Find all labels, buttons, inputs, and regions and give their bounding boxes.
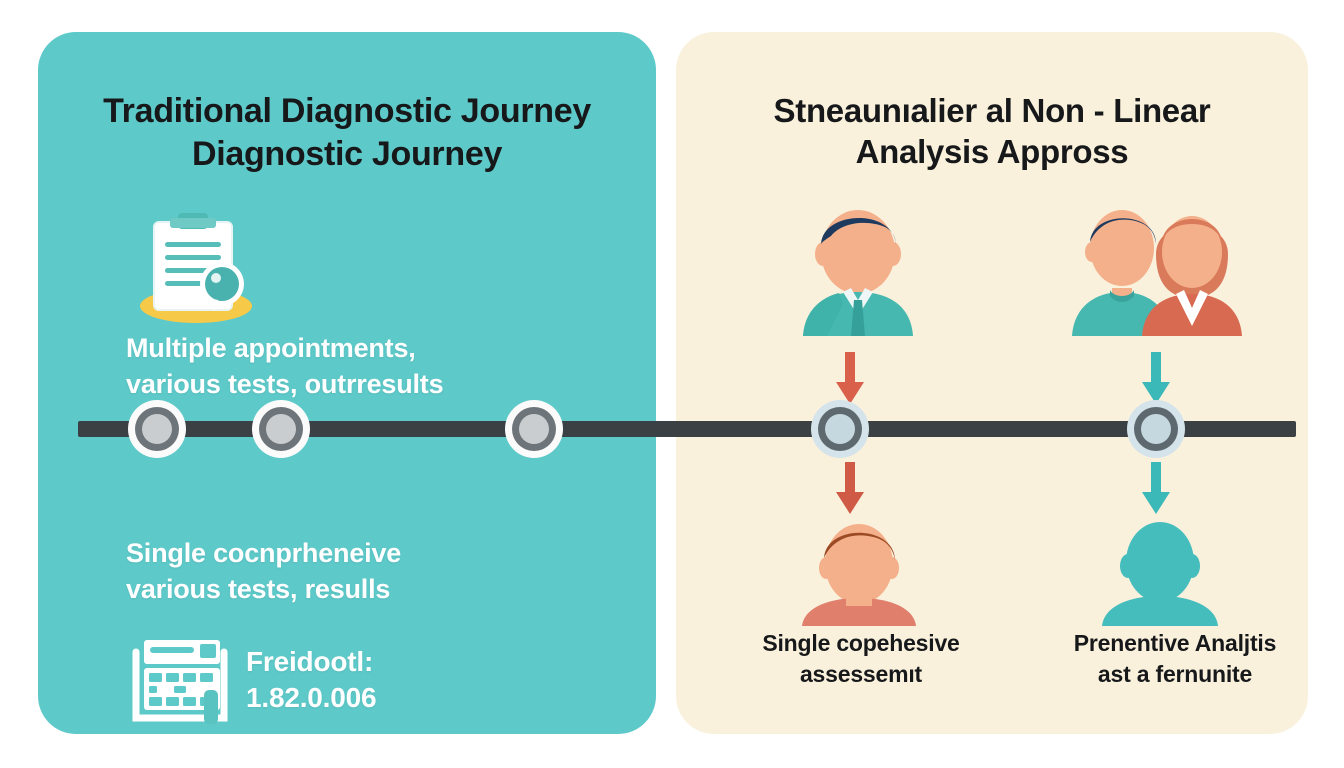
- timeline-node[interactable]: [252, 400, 310, 458]
- right-panel-title: Stneaunıalier al Non - Linear Analysis A…: [676, 90, 1308, 173]
- timeline-node[interactable]: [1127, 400, 1185, 458]
- arrow-down-icon: [1141, 462, 1171, 516]
- couple-avatar-icon: [1064, 196, 1248, 336]
- timeline-node-ring: [512, 407, 556, 451]
- timeline-node[interactable]: [811, 400, 869, 458]
- clipboard-magnifier-icon: [130, 208, 260, 326]
- timeline-node-core: [825, 414, 855, 444]
- infographic-canvas: Traditional Diagnostic Journey Diagnosti…: [0, 0, 1344, 768]
- left-panel: Traditional Diagnostic Journey Diagnosti…: [38, 32, 656, 734]
- timeline-node-core: [1141, 414, 1171, 444]
- right-title-line-1: Stneaunıalier al Non - Linear: [702, 90, 1282, 131]
- timeline-node-core: [266, 414, 296, 444]
- businessman-avatar-icon: [783, 196, 933, 336]
- timeline-node-ring: [135, 407, 179, 451]
- metric-readout: Freidootl: 1.82.0.006: [246, 644, 376, 717]
- left-title-line-1: Traditional Diagnostic Journey: [64, 90, 630, 133]
- left-text-bottom-line-2: various tests, resulls: [126, 571, 586, 607]
- timeline-node[interactable]: [128, 400, 186, 458]
- timeline-node-core: [519, 414, 549, 444]
- caption-preventive-analytics: Prenentive Analjtis ast a fernunite: [1022, 628, 1328, 690]
- left-text-bottom: Single cocnprheneive various tests, resu…: [126, 535, 586, 608]
- left-text-top: Multiple appointments, various tests, ou…: [126, 330, 586, 403]
- left-text-top-line-2: various tests, outrresults: [126, 366, 586, 402]
- arrow-down-icon: [835, 352, 865, 406]
- caption-left-line-1: Single copehesive: [706, 628, 1016, 659]
- left-title-line-2: Diagnostic Journey: [64, 133, 630, 176]
- metric-value: 1.82.0.006: [246, 680, 376, 716]
- metric-label: Freidootl:: [246, 644, 376, 680]
- person-avatar-icon: [788, 516, 930, 626]
- person-silhouette-icon: [1094, 516, 1226, 626]
- calendar-form-icon: [128, 638, 236, 730]
- left-panel-title: Traditional Diagnostic Journey Diagnosti…: [38, 90, 656, 175]
- caption-right-line-1: Prenentive Analjtis: [1022, 628, 1328, 659]
- arrow-down-icon: [835, 462, 865, 516]
- right-title-line-2: Analysis Appross: [702, 131, 1282, 172]
- caption-single-cohesive: Single copehesive assessemıt: [706, 628, 1016, 690]
- arrow-down-icon: [1141, 352, 1171, 406]
- timeline-node-ring: [1134, 407, 1178, 451]
- left-text-top-line-1: Multiple appointments,: [126, 330, 586, 366]
- caption-right-line-2: ast a fernunite: [1022, 659, 1328, 690]
- timeline-node[interactable]: [505, 400, 563, 458]
- timeline-node-ring: [818, 407, 862, 451]
- left-text-bottom-line-1: Single cocnprheneive: [126, 535, 586, 571]
- timeline-node-ring: [259, 407, 303, 451]
- timeline-node-core: [142, 414, 172, 444]
- caption-left-line-2: assessemıt: [706, 659, 1016, 690]
